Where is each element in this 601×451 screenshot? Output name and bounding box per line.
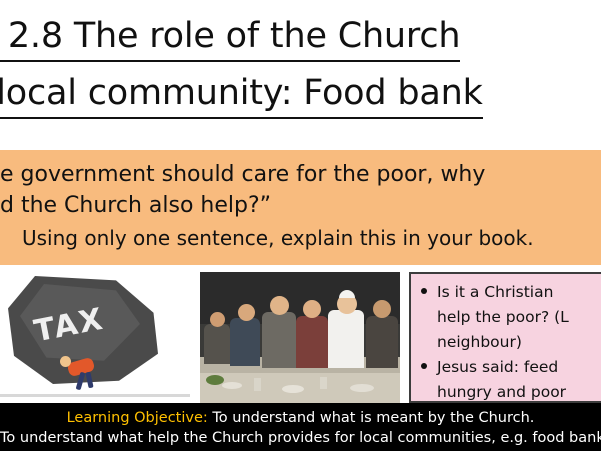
quote-task: Using only one sentence, explain this in… [22, 226, 534, 250]
quote-panel: e government should care for the poor, w… [0, 150, 601, 265]
title-line-2: e local community: Food bank [0, 71, 601, 119]
figure-5-head [373, 300, 391, 318]
title-line-2-text: e local community: Food bank [0, 71, 483, 119]
pink-bullet-list: Is it a Christian help the poor? (L neig… [411, 274, 601, 402]
figure-1-head [210, 312, 225, 327]
person-leg-right [85, 372, 93, 389]
list-item: help the poor? (L [437, 307, 601, 327]
figure-2-head [238, 304, 255, 321]
learning-objective-bar: Learning Objective: To understand what i… [0, 403, 601, 451]
plate-2 [282, 385, 304, 393]
figure-1 [204, 324, 230, 364]
plate-1 [222, 382, 242, 389]
title-line-1-text: e: 2.8 The role of the Church [0, 14, 460, 62]
list-item-text: Is it a Christian [437, 283, 553, 301]
quote-line-2: d the Church also help?” [0, 190, 601, 221]
objective-line-2: To understand what help the Church provi… [0, 428, 601, 448]
objective-label: Learning Objective: [67, 410, 208, 426]
figure-4 [296, 316, 328, 368]
bullet-dot-icon [421, 288, 427, 294]
list-item-text: neighbour) [437, 333, 522, 351]
bullet-dot-icon [421, 363, 427, 369]
glass-2 [320, 377, 327, 389]
figure-pope [328, 310, 364, 368]
person-head [60, 356, 71, 367]
list-item: Is it a Christian [437, 282, 601, 302]
plate-3 [350, 384, 374, 392]
list-item: hungry and poor [437, 382, 601, 402]
list-item: neighbour) [437, 332, 601, 352]
person-pushing-boulder [58, 350, 104, 396]
pope-dining-with-poor-photo [200, 272, 400, 403]
figure-2 [230, 318, 260, 366]
ground-line [0, 394, 190, 397]
glass-1 [254, 378, 261, 391]
list-item-text: Jesus said: feed [437, 358, 558, 376]
page-title: e: 2.8 The role of the Church e local co… [0, 14, 601, 119]
list-item-text: help the poor? (L [437, 308, 569, 326]
slide: e: 2.8 The role of the Church e local co… [0, 0, 601, 451]
tax-boulder-cartoon: TAX [0, 272, 190, 403]
objective-line-1: Learning Objective: To understand what i… [0, 408, 601, 428]
quote-text: e government should care for the poor, w… [0, 159, 601, 221]
title-line-1: e: 2.8 The role of the Church [0, 14, 601, 62]
objective-line-1-text: To understand what is meant by the Churc… [208, 410, 535, 426]
pink-question-box: Is it a Christian help the poor? (L neig… [409, 272, 601, 403]
quote-line-1: e government should care for the poor, w… [0, 162, 485, 187]
figure-3 [262, 312, 296, 368]
list-item: Jesus said: feed [437, 357, 601, 377]
list-item-text: hungry and poor [437, 383, 566, 401]
figure-5 [366, 316, 398, 368]
figure-3-head [270, 296, 289, 315]
figure-4-head [303, 300, 321, 318]
bowl-greens [206, 375, 224, 385]
